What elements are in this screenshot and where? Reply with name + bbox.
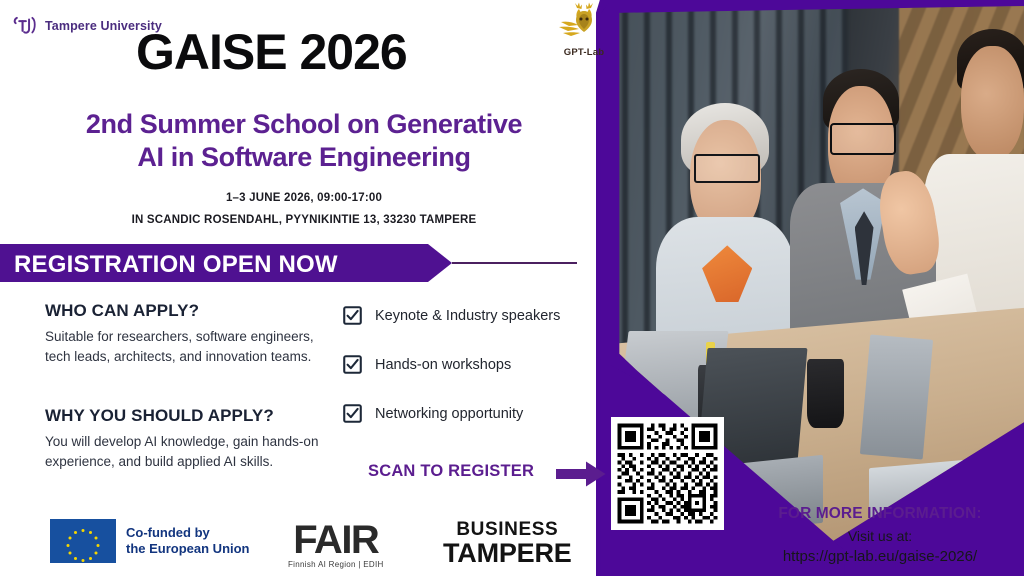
checkbox-checked-icon (343, 355, 362, 374)
eu-label-line-2: the European Union (126, 541, 250, 557)
fair-tagline: Finnish AI Region | EDIH (288, 560, 384, 569)
feature-label: Keynote & Industry speakers (375, 308, 560, 324)
scan-to-register-label: SCAN TO REGISTER (368, 462, 534, 481)
tampere-university-mark-icon (12, 14, 38, 38)
eu-cofunding-logo: Co-funded by the European Union (50, 519, 250, 563)
deer-head-icon (555, 2, 613, 44)
qr-code-icon[interactable] (614, 420, 721, 527)
gpt-lab-label: GPT-Lab (553, 47, 615, 58)
why-apply-heading: WHY YOU SHOULD APPLY? (45, 406, 340, 426)
arrow-right-icon (556, 461, 606, 487)
event-venue: IN SCANDIC ROSENDAHL, PYYNIKINTIE 13, 33… (34, 214, 574, 226)
subtitle-line-2: AI in Software Engineering (34, 141, 574, 174)
page-subtitle: 2nd Summer School on Generative AI in So… (34, 108, 574, 174)
feature-checklist: Keynote & Industry speakers Hands-on wor… (343, 306, 593, 453)
more-information-heading: FOR MORE INFORMATION: (744, 505, 1016, 523)
eu-label-line-1: Co-funded by (126, 525, 250, 541)
visit-us-label: Visit us at: (744, 528, 1016, 544)
fair-logo: FAIR Finnish AI Region | EDIH (288, 521, 384, 569)
poster-canvas: Tampere University GPT-Lab GAISE 2026 2n (0, 0, 1024, 576)
list-item: Networking opportunity (343, 404, 593, 423)
event-datetime: 1–3 JUNE 2026, 09:00-17:00 (34, 192, 574, 204)
feature-label: Hands-on workshops (375, 357, 511, 373)
list-item: Hands-on workshops (343, 355, 593, 374)
why-apply-body: You will develop AI knowledge, gain hand… (45, 432, 340, 472)
eu-cofunding-label: Co-funded by the European Union (126, 525, 250, 557)
business-tampere-logo: BUSINESS TAMPERE (443, 520, 572, 567)
banner-label: REGISTRATION OPEN NOW (14, 251, 338, 279)
business-tampere-line-2: TAMPERE (443, 540, 572, 567)
business-tampere-line-1: BUSINESS (443, 520, 572, 539)
qr-code[interactable] (611, 417, 724, 530)
who-can-apply-heading: WHO CAN APPLY? (45, 301, 340, 321)
banner-rule (452, 262, 577, 264)
fair-wordmark: FAIR (288, 521, 384, 559)
subtitle-line-1: 2nd Summer School on Generative (34, 108, 574, 141)
eu-flag-icon (50, 519, 116, 563)
who-can-apply-block: WHO CAN APPLY? Suitable for researchers,… (45, 301, 340, 367)
why-apply-block: WHY YOU SHOULD APPLY? You will develop A… (45, 406, 340, 472)
who-can-apply-body: Suitable for researchers, software engin… (45, 327, 340, 367)
gpt-lab-logo: GPT-Lab (553, 2, 615, 58)
event-url[interactable]: https://gpt-lab.eu/gaise-2026/ (744, 548, 1016, 565)
registration-banner: REGISTRATION OPEN NOW (0, 244, 580, 282)
list-item: Keynote & Industry speakers (343, 306, 593, 325)
checkbox-checked-icon (343, 404, 362, 423)
page-title: GAISE 2026 (136, 27, 407, 77)
checkbox-checked-icon (343, 306, 362, 325)
feature-label: Networking opportunity (375, 406, 523, 422)
